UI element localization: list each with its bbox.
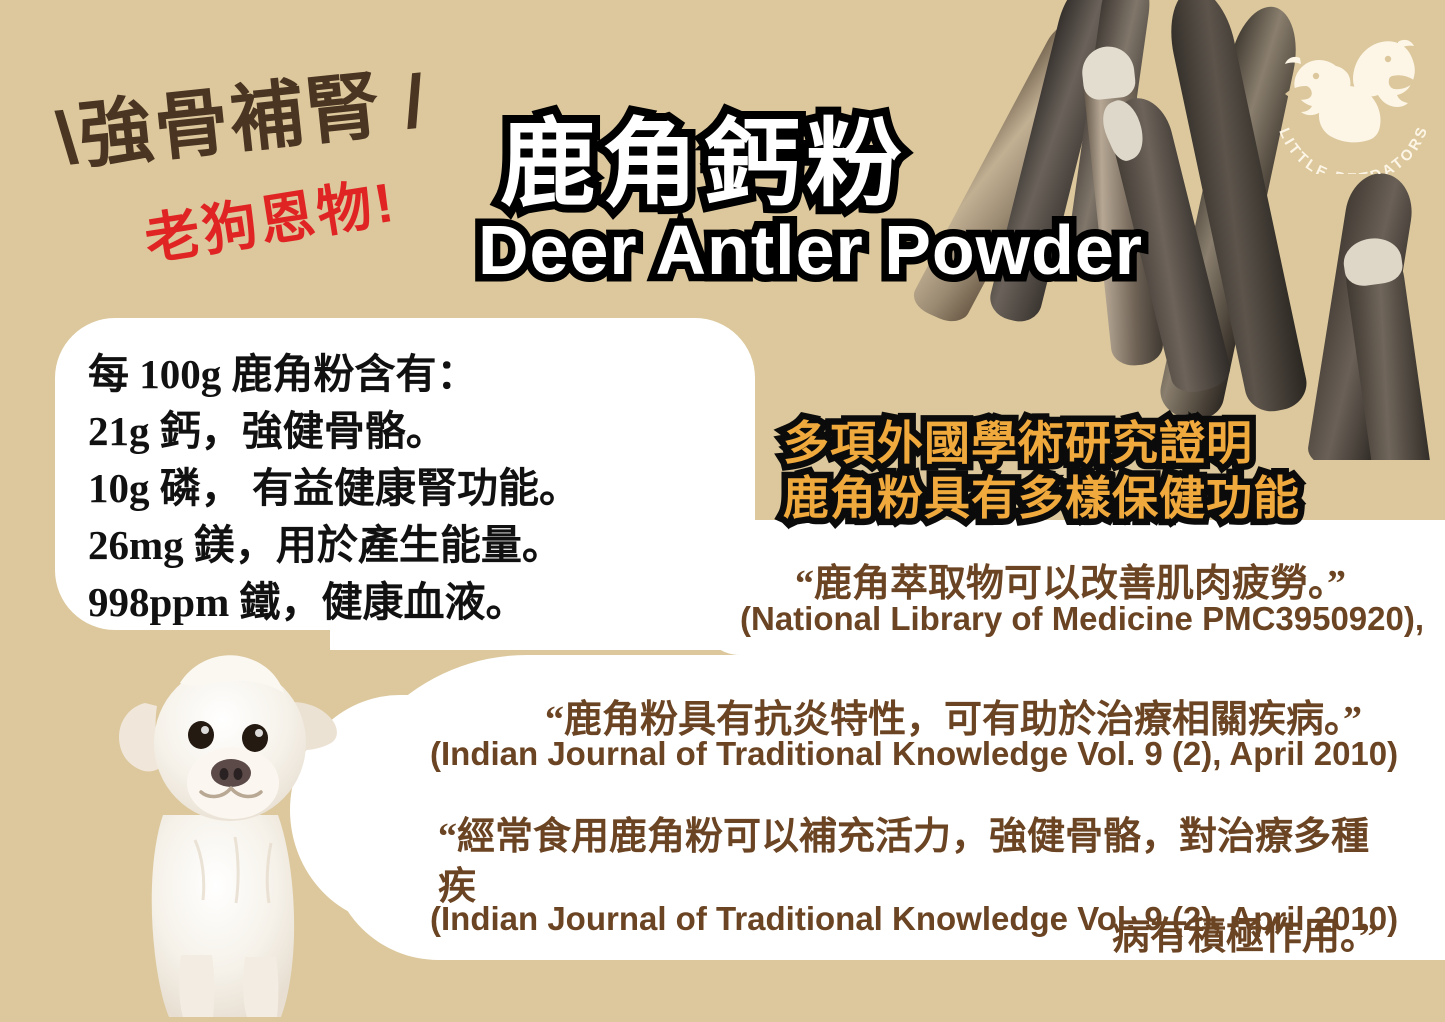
quote-3-source: (Indian Journal of Traditional Knowledge… (430, 900, 1398, 938)
research-heading-line2: 鹿角粉具有多樣保健功能 (783, 471, 1300, 526)
nutrition-facts: 每 100g 鹿角粉含有： 21g 鈣，強健骨骼。 10g 磷， 有益健康腎功能… (88, 346, 728, 631)
poster-canvas: LITTLE PETDATORS \強骨補腎 / 老狗恩物! 鹿角鈣粉 Deer… (0, 0, 1445, 1022)
quote-3-text: “經常食用鹿角粉可以補充活力，強健骨骼，對治療多種疾 病有積極作用。” (438, 812, 1378, 962)
dog-photo (85, 625, 385, 1022)
quote-3-line1: “經常食用鹿角粉可以補充活力，強健骨骼，對治療多種疾 (438, 812, 1378, 912)
nutrition-line: 998ppm 鐵，健康血液。 (88, 574, 728, 631)
brand-logo: LITTLE PETDATORS (1270, 14, 1435, 174)
nutrition-line: 26mg 鎂，用於產生能量。 (88, 517, 728, 574)
quote-1-text: “鹿角萃取物可以改善肌肉疲勞。” (795, 552, 1346, 607)
page-title-english: Deer Antler Powder (478, 210, 1143, 290)
research-heading: 多項外國學術研究證明 鹿角粉具有多樣保健功能 (783, 416, 1300, 526)
tagline-secondary: 老狗恩物! (138, 157, 401, 276)
nutrition-line: 21g 鈣，強健骨骼。 (88, 403, 728, 460)
research-heading-line1: 多項外國學術研究證明 (783, 416, 1300, 471)
page-title-chinese: 鹿角鈣粉 (500, 86, 908, 225)
quote-1-source: (National Library of Medicine PMC3950920… (740, 600, 1424, 638)
nutrition-heading: 每 100g 鹿角粉含有： (88, 346, 728, 403)
quote-2-source: (Indian Journal of Traditional Knowledge… (430, 735, 1398, 773)
nutrition-line: 10g 磷， 有益健康腎功能。 (88, 460, 728, 517)
